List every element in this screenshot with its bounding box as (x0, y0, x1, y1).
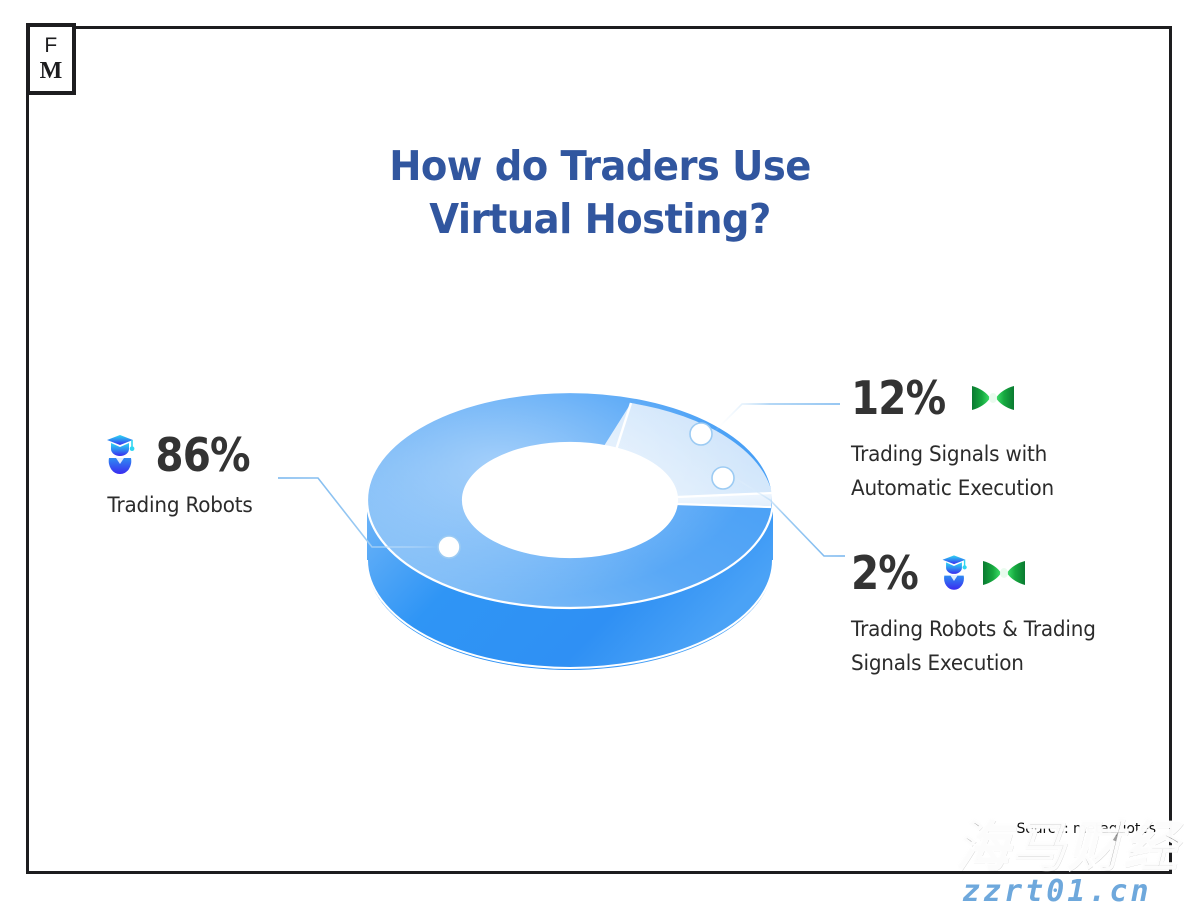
callout-robots-and-signals: 2% (851, 548, 1171, 680)
page-title: How do Traders Use Virtual Hosting? (318, 140, 882, 246)
callout-robots-row: 86% (70, 430, 290, 480)
watermark-chinese: 海马财经 (955, 812, 1200, 882)
callout-signals-percent: 12% (851, 373, 945, 423)
trading-robot-icon (939, 552, 969, 594)
callout-trading-robots: 86% Trading Robots (70, 430, 290, 522)
callout-both-label: Trading Robots & Trading Signals Executi… (851, 612, 1155, 680)
callout-trading-signals: 12% (851, 373, 1161, 505)
trading-signal-icon (970, 382, 1016, 414)
logo-letter-f: F (44, 35, 57, 56)
infographic-canvas: F M How do Traders Use Virtual Hosting? (0, 0, 1200, 908)
trading-robot-icon (103, 432, 137, 478)
callout-both-percent: 2% (851, 548, 918, 598)
callout-robots-percent: 86% (156, 430, 250, 480)
callout-signals-label: Trading Signals with Automatic Execution (851, 437, 1146, 505)
callout-both-row: 2% (851, 548, 1171, 598)
trading-signal-icon (981, 557, 1027, 589)
callout-robots-label: Trading Robots (76, 488, 285, 522)
callout-signals-row: 12% (851, 373, 1161, 423)
logo-letter-m: M (40, 59, 63, 83)
watermark-url: zzrt01.cn (962, 876, 1152, 908)
fm-logo: F M (26, 23, 76, 95)
